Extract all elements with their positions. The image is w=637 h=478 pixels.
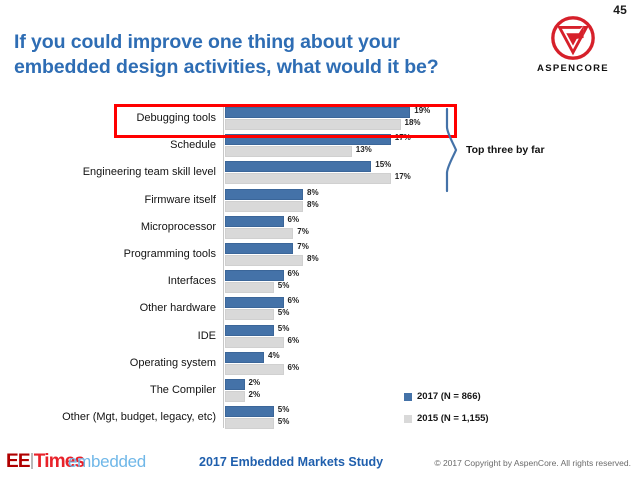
- bar-value-label: 17%: [395, 172, 411, 181]
- bar-2017: 4%: [225, 352, 525, 363]
- bar-2017: 15%: [225, 161, 525, 172]
- bar-rect: [225, 309, 274, 320]
- bar-2015: 5%: [225, 282, 525, 293]
- bar-value-label: 6%: [288, 296, 300, 305]
- chart-row: The Compiler2%2%: [0, 379, 637, 406]
- category-label: Programming tools: [30, 248, 216, 260]
- bar-2015: 18%: [225, 119, 525, 130]
- top-three-annotation: Top three by far: [466, 144, 545, 156]
- slide-number: 45: [613, 3, 627, 17]
- bar-rect: [225, 270, 284, 281]
- bar-2017: 8%: [225, 189, 525, 200]
- bar-value-label: 8%: [307, 188, 319, 197]
- legend-item-2017: 2017 (N = 866): [404, 391, 489, 402]
- bar-2017: 6%: [225, 216, 525, 227]
- aspencore-mark-icon: [549, 14, 597, 62]
- bar-2015: 5%: [225, 309, 525, 320]
- bar-value-label: 4%: [268, 351, 280, 360]
- bar-2017: 6%: [225, 270, 525, 281]
- bar-value-label: 5%: [278, 281, 290, 290]
- bar-rect: [225, 255, 303, 266]
- bar-value-label: 5%: [278, 405, 290, 414]
- bar-value-label: 5%: [278, 417, 290, 426]
- chart-legend: 2017 (N = 866) 2015 (N = 1,155): [404, 391, 489, 435]
- bar-rect: [225, 391, 245, 402]
- category-label: Engineering team skill level: [30, 166, 216, 178]
- category-label: Firmware itself: [30, 194, 216, 206]
- bar-rect: [225, 352, 264, 363]
- bar-rect: [225, 201, 303, 212]
- bar-value-label: 8%: [307, 200, 319, 209]
- bar-value-label: 6%: [288, 363, 300, 372]
- bar-rect: [225, 418, 274, 429]
- bar-2017: 5%: [225, 325, 525, 336]
- eetimes-logo-divider: [31, 453, 33, 469]
- chart-row: Microprocessor6%7%: [0, 216, 637, 243]
- bar-rect: [225, 216, 284, 227]
- aspencore-wordmark: ASPENCORE: [535, 63, 611, 74]
- bar-value-label: 18%: [405, 118, 421, 127]
- bar-2017: 6%: [225, 297, 525, 308]
- legend-label-2015: 2015 (N = 1,155): [417, 413, 489, 424]
- bar-rect: [225, 282, 274, 293]
- bar-rect: [225, 134, 391, 145]
- embedded-logo: embedded: [68, 453, 146, 470]
- bar-value-label: 5%: [278, 308, 290, 317]
- chart-row: Other hardware6%5%: [0, 297, 637, 324]
- category-label: Other (Mgt, budget, legacy, etc): [30, 411, 216, 423]
- bar-value-label: 7%: [297, 242, 309, 251]
- bar-rect: [225, 406, 274, 417]
- bar-2017: 19%: [225, 107, 525, 118]
- bar-rect: [225, 161, 371, 172]
- bar-rect: [225, 119, 401, 130]
- chart-row: Interfaces6%5%: [0, 270, 637, 297]
- category-label: Interfaces: [30, 275, 216, 287]
- bar-rect: [225, 173, 391, 184]
- legend-swatch-2017: [404, 393, 412, 401]
- bar-2015: 8%: [225, 255, 525, 266]
- page-title: If you could improve one thing about you…: [14, 30, 474, 80]
- chart-row: Debugging tools19%18%: [0, 107, 637, 134]
- top-three-brace-icon: [444, 107, 462, 193]
- category-label: The Compiler: [30, 384, 216, 396]
- legend-label-2017: 2017 (N = 866): [417, 391, 481, 402]
- bar-2015: 7%: [225, 228, 525, 239]
- bar-rect: [225, 146, 352, 157]
- bar-value-label: 8%: [307, 254, 319, 263]
- category-label: IDE: [30, 330, 216, 342]
- bar-value-label: 15%: [375, 160, 391, 169]
- legend-swatch-2015: [404, 415, 412, 423]
- chart-row: Operating system4%6%: [0, 352, 637, 379]
- chart-row: Firmware itself8%8%: [0, 189, 637, 216]
- category-label: Schedule: [30, 139, 216, 151]
- eetimes-logo-ee: EE: [6, 451, 30, 472]
- bar-value-label: 6%: [288, 336, 300, 345]
- bar-value-label: 19%: [414, 106, 430, 115]
- footer-copyright: © 2017 Copyright by AspenCore. All right…: [434, 458, 631, 468]
- bar-2015: 6%: [225, 364, 525, 375]
- chart-row: Other (Mgt, budget, legacy, etc)5%5%: [0, 406, 637, 433]
- bar-2017: 7%: [225, 243, 525, 254]
- bar-rect: [225, 107, 410, 118]
- bar-2015: 17%: [225, 173, 525, 184]
- chart-row: Programming tools7%8%: [0, 243, 637, 270]
- bar-rect: [225, 364, 284, 375]
- bar-value-label: 6%: [288, 215, 300, 224]
- legend-item-2015: 2015 (N = 1,155): [404, 413, 489, 424]
- aspencore-logo: ASPENCORE: [535, 14, 611, 74]
- bar-rect: [225, 297, 284, 308]
- bar-2015: 8%: [225, 201, 525, 212]
- bar-value-label: 6%: [288, 269, 300, 278]
- bar-2017: 2%: [225, 379, 525, 390]
- category-label: Microprocessor: [30, 221, 216, 233]
- footer-study-title: 2017 Embedded Markets Study: [199, 455, 383, 469]
- category-label: Debugging tools: [30, 112, 216, 124]
- bar-rect: [225, 228, 293, 239]
- bar-value-label: 5%: [278, 324, 290, 333]
- category-label: Other hardware: [30, 302, 216, 314]
- chart-row: Engineering team skill level15%17%: [0, 161, 637, 188]
- bar-value-label: 2%: [249, 390, 261, 399]
- bar-value-label: 2%: [249, 378, 261, 387]
- bar-rect: [225, 325, 274, 336]
- bar-value-label: 17%: [395, 133, 411, 142]
- chart-row: IDE5%6%: [0, 325, 637, 352]
- bar-rect: [225, 189, 303, 200]
- bar-rect: [225, 243, 293, 254]
- bar-value-label: 13%: [356, 145, 372, 154]
- bar-value-label: 7%: [297, 227, 309, 236]
- bar-2015: 6%: [225, 337, 525, 348]
- bar-rect: [225, 337, 284, 348]
- bar-rect: [225, 379, 245, 390]
- footer: EETimes embedded 2017 Embedded Markets S…: [0, 444, 637, 478]
- category-label: Operating system: [30, 357, 216, 369]
